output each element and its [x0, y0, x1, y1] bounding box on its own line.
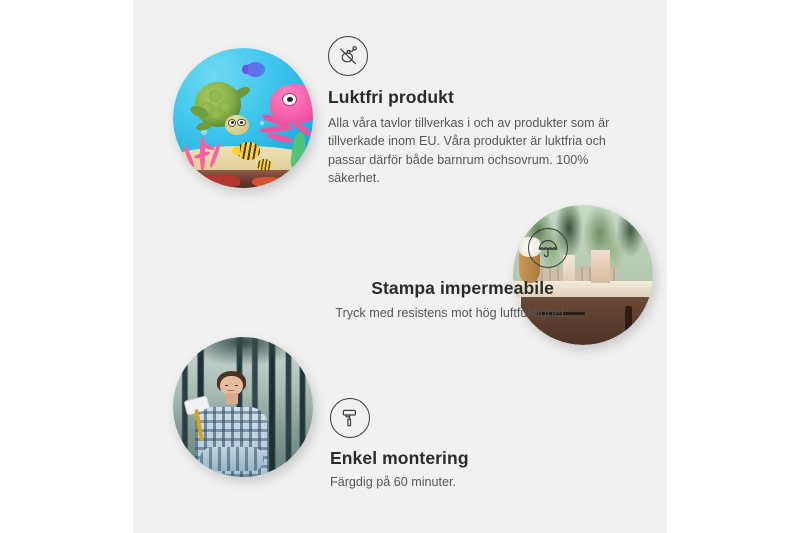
product-feature-graphic: Luktfri produkt Alla våra tavlor tillver… — [0, 0, 800, 533]
feature-title: Enkel montering — [329, 448, 609, 469]
feature-waterproof: Stampa impermeabile Tryck med resistens … — [218, 228, 568, 322]
feature-title: Luktfri produkt — [328, 87, 628, 108]
forest-illustration — [173, 337, 313, 477]
feature-description: Tryck med resistens mot hög luftfuktighe… — [218, 304, 568, 322]
installer-person — [195, 371, 268, 477]
photo-ocean-mural — [173, 48, 313, 188]
feature-mounting: Enkel montering Färgdig på 60 minuter. — [329, 398, 609, 491]
feature-description: Alla våra tavlor tillverkas i och av pro… — [328, 114, 620, 187]
feature-description: Färgdig på 60 minuter. — [329, 473, 609, 491]
paint-roller-icon — [330, 398, 370, 438]
feature-odourless: Luktfri produkt Alla våra tavlor tillver… — [328, 36, 628, 187]
octopus-illustration — [260, 84, 313, 148]
purple-fish-icon — [246, 62, 266, 77]
umbrella-icon — [528, 228, 568, 268]
towel — [591, 250, 609, 284]
no-fragrance-icon — [328, 36, 368, 76]
yellow-fish-icon — [237, 142, 259, 160]
feature-title: Stampa impermeabile — [218, 278, 554, 299]
photo-installer-forest — [173, 337, 313, 477]
ocean-illustration — [173, 48, 313, 188]
coral-illustration — [181, 128, 229, 170]
feature-panel: Luktfri produkt Alla våra tavlor tillver… — [133, 0, 667, 533]
